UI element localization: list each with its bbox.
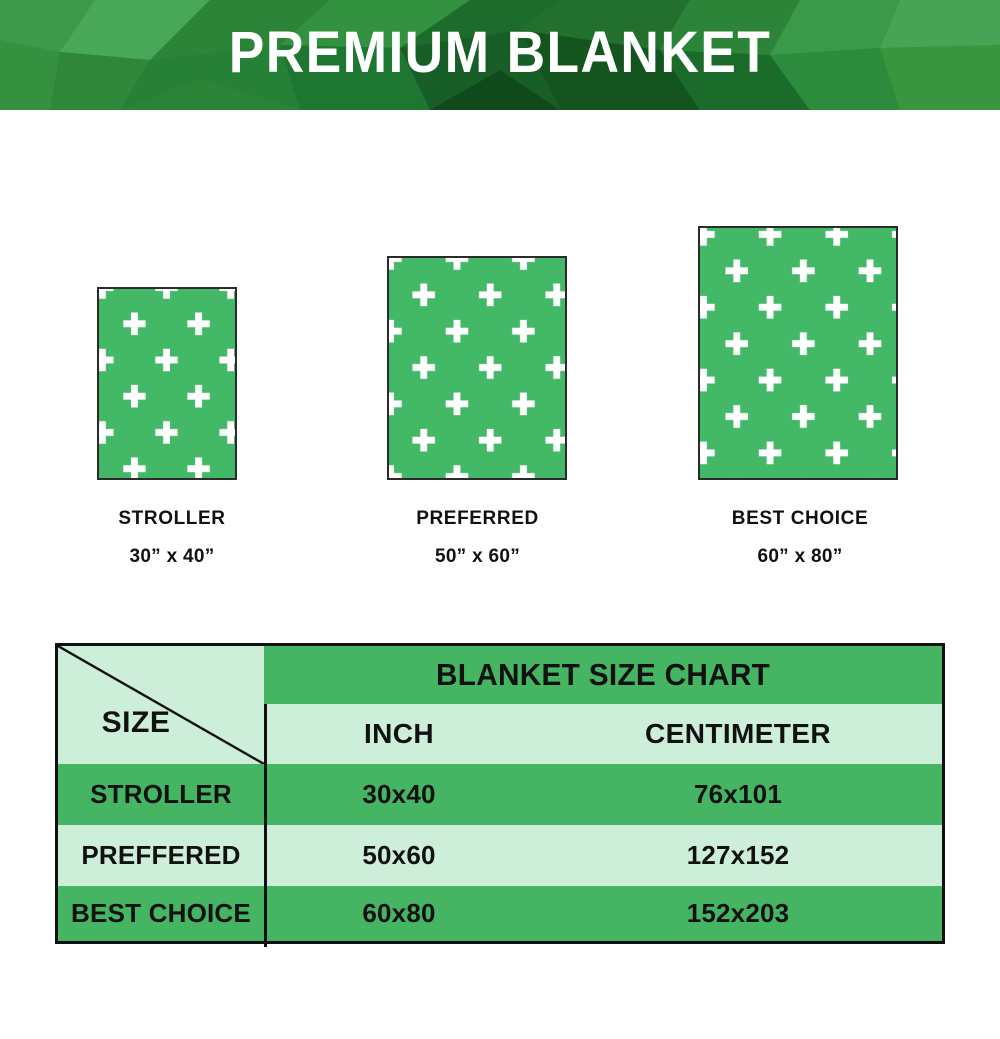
cell-size-preffered: PREFFERED bbox=[58, 825, 264, 886]
swatch-box-best-choice bbox=[698, 226, 898, 480]
swatch-dimensions-best-choice: 60” x 80” bbox=[685, 543, 915, 572]
cell-size-stroller: STROLLER bbox=[58, 764, 264, 825]
cell-cm-best-choice: 152x203 bbox=[534, 886, 942, 941]
plus-pattern-icon bbox=[99, 289, 235, 478]
table-row: BEST CHOICE 60x80 152x203 bbox=[58, 886, 942, 941]
table-title: BLANKET SIZE CHART bbox=[436, 657, 770, 693]
swatch-name-best-choice: BEST CHOICE bbox=[685, 505, 915, 534]
table-row: PREFFERED 50x60 127x152 bbox=[58, 825, 942, 886]
blanket-swatches: STROLLER 30” x 40” bbox=[0, 110, 1000, 610]
swatch-labels-best-choice: BEST CHOICE 60” x 80” bbox=[685, 505, 915, 571]
diagonal-divider-icon bbox=[58, 646, 264, 764]
swatch-box-preferred bbox=[387, 256, 567, 480]
column-header-centimeter: CENTIMETER bbox=[534, 704, 942, 764]
table-header-block: SIZE BLANKET SIZE CHART INCH CENTIMETER bbox=[58, 646, 942, 764]
page-title: PREMIUM BLANKET bbox=[40, 0, 960, 110]
swatch-labels-preferred: PREFERRED 50” x 60” bbox=[365, 505, 590, 571]
plus-pattern-icon bbox=[700, 228, 896, 478]
table-column-headers: INCH CENTIMETER bbox=[264, 704, 942, 764]
cell-inch-preffered: 50x60 bbox=[264, 825, 534, 886]
swatch-name-preferred: PREFERRED bbox=[365, 505, 590, 534]
cell-cm-stroller: 76x101 bbox=[534, 764, 942, 825]
table-corner-label: SIZE bbox=[76, 706, 196, 740]
swatch-name-stroller: STROLLER bbox=[57, 505, 287, 534]
swatch-dimensions-preferred: 50” x 60” bbox=[365, 543, 590, 572]
table-title-bar: BLANKET SIZE CHART bbox=[264, 646, 942, 704]
cell-inch-stroller: 30x40 bbox=[264, 764, 534, 825]
cell-inch-best-choice: 60x80 bbox=[264, 886, 534, 941]
table-corner-cell: SIZE bbox=[58, 646, 264, 764]
table-vertical-divider bbox=[264, 704, 267, 947]
column-header-inch: INCH bbox=[264, 704, 534, 764]
table-row: STROLLER 30x40 76x101 bbox=[58, 764, 942, 825]
swatch-labels-stroller: STROLLER 30” x 40” bbox=[57, 505, 287, 571]
cell-size-best-choice: BEST CHOICE bbox=[58, 886, 264, 941]
blanket-size-table: SIZE BLANKET SIZE CHART INCH CENTIMETER … bbox=[55, 643, 945, 944]
swatch-dimensions-stroller: 30” x 40” bbox=[57, 543, 287, 572]
header-banner: PREMIUM BLANKET bbox=[0, 0, 1000, 110]
cell-cm-preffered: 127x152 bbox=[534, 825, 942, 886]
plus-pattern-icon bbox=[389, 258, 565, 478]
blanket-size-chart-page: PREMIUM BLANKET bbox=[0, 0, 1000, 1039]
swatch-box-stroller bbox=[97, 287, 237, 480]
